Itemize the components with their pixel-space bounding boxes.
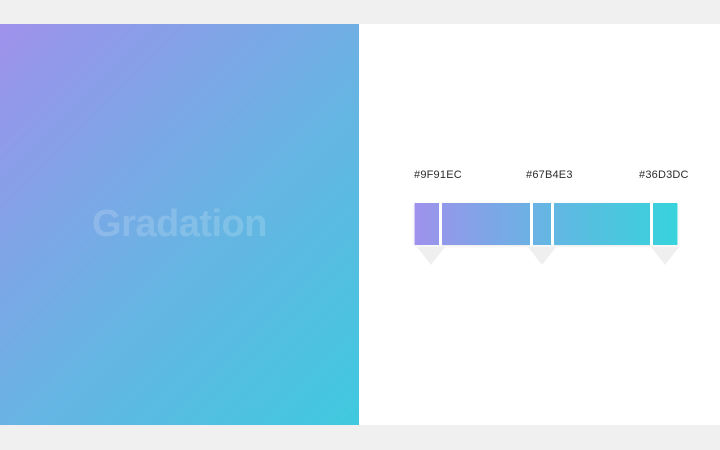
gradient-bar[interactable] <box>414 203 678 245</box>
page-title: Gradation <box>0 24 359 425</box>
stop-marker-row <box>414 247 678 267</box>
gradient-bar-divider-3 <box>551 202 554 246</box>
gradient-bar-fill <box>414 203 678 245</box>
hex-label-1: #9F91EC <box>414 168 462 182</box>
screenshot-canvas: Gradation #9F91EC #67B4E3 #36D3DC <box>0 0 720 450</box>
hex-label-3: #36D3DC <box>639 168 689 182</box>
gradient-preview-panel: Gradation <box>0 24 359 425</box>
gradient-bar-divider-4 <box>650 202 653 246</box>
gradient-bar-divider-2 <box>530 202 533 246</box>
triangle-down-icon-1[interactable] <box>417 247 445 265</box>
hex-label-row: #9F91EC #67B4E3 #36D3DC <box>414 168 678 188</box>
triangle-down-icon-3[interactable] <box>651 247 679 265</box>
color-palette: #9F91EC #67B4E3 #36D3DC <box>414 168 678 268</box>
hex-label-2: #67B4E3 <box>526 168 573 182</box>
gradient-bar-divider-1 <box>439 202 442 246</box>
triangle-down-icon-2[interactable] <box>528 247 556 265</box>
